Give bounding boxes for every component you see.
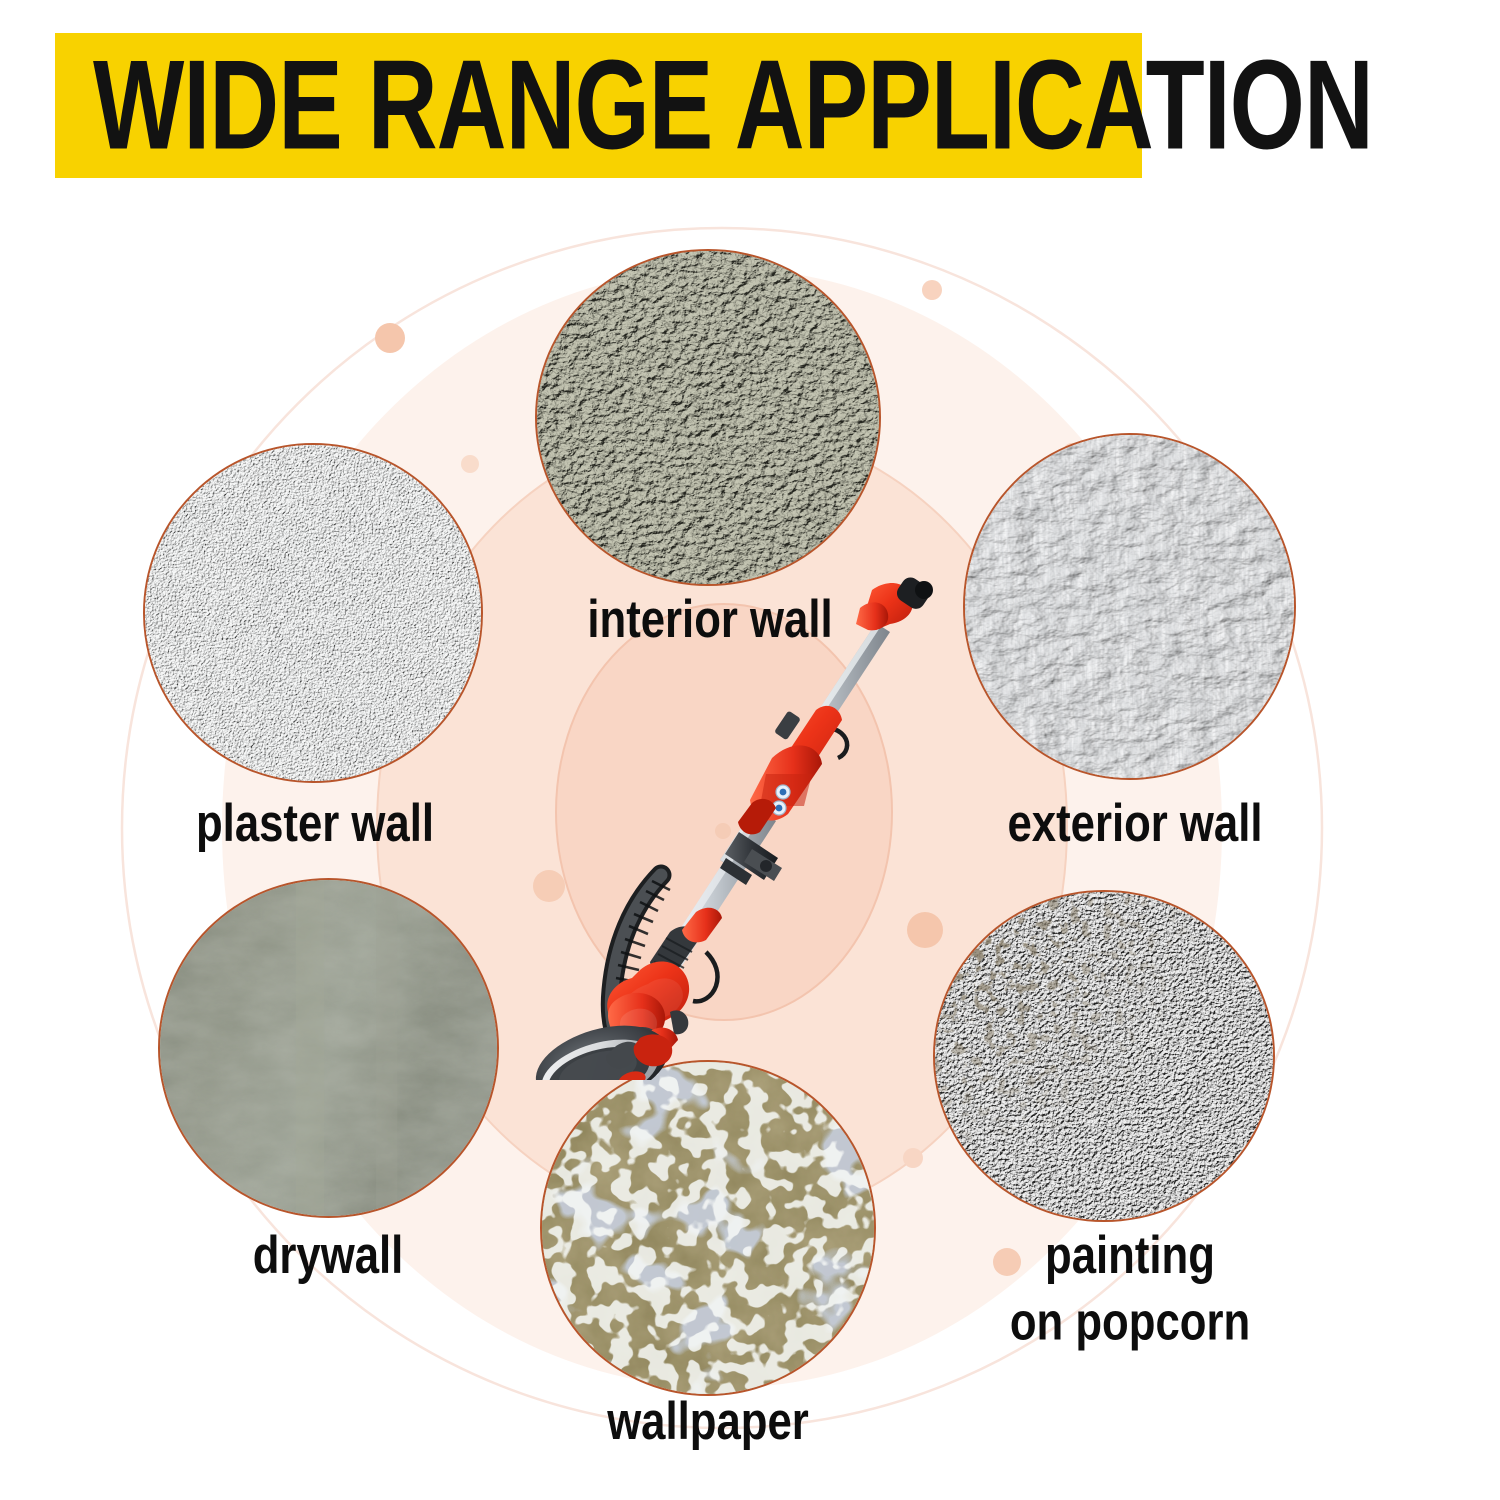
texture-flat-concrete — [158, 878, 499, 1218]
label-painting-on-popcorn: painting on popcorn — [950, 1222, 1311, 1354]
infographic-canvas: interior wall plaster wall exterior wall… — [0, 0, 1500, 1500]
texture-fine-speckle — [143, 443, 483, 783]
application-circle-interior-wall[interactable] — [535, 249, 881, 586]
application-circle-wallpaper[interactable] — [540, 1060, 876, 1396]
texture-coarse-stucco — [535, 249, 881, 586]
motor-housing — [738, 706, 842, 834]
ring-dot — [903, 1148, 923, 1168]
label-plaster-wall: plaster wall — [139, 797, 491, 849]
label-interior-wall: interior wall — [549, 593, 872, 645]
label-drywall: drywall — [157, 1229, 499, 1281]
label-exterior-wall: exterior wall — [959, 797, 1311, 849]
title-banner: WIDE RANGE APPLICATION — [55, 33, 1142, 178]
power-cord-lower — [693, 952, 718, 1001]
texture-peeling-paint — [540, 1060, 876, 1396]
page-title: WIDE RANGE APPLICATION — [93, 42, 1373, 169]
ring-dot — [375, 323, 405, 353]
ring-dot — [922, 280, 942, 300]
application-circle-painting-on-popcorn[interactable] — [933, 890, 1275, 1222]
application-circle-drywall[interactable] — [158, 878, 499, 1218]
label-wallpaper: wallpaper — [547, 1395, 870, 1447]
application-circle-plaster-wall[interactable] — [143, 443, 483, 783]
application-circle-exterior-wall[interactable] — [963, 433, 1296, 780]
texture-popcorn-mold — [933, 890, 1275, 1222]
texture-smooth-trowel — [963, 433, 1296, 780]
